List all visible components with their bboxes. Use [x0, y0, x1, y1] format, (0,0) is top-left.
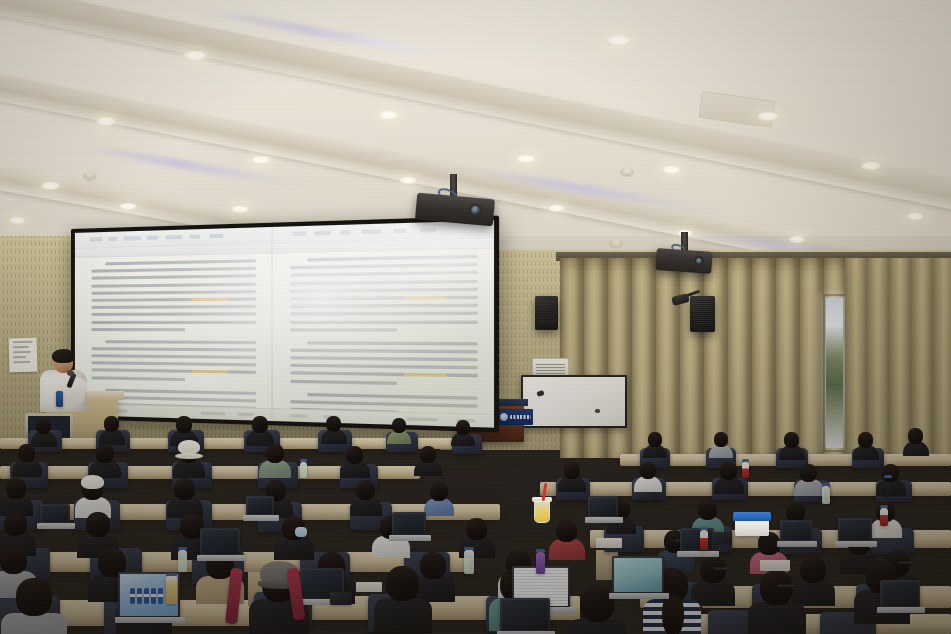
wall-speaker-right	[690, 296, 715, 332]
student-head	[456, 420, 470, 435]
laptop-base	[677, 551, 719, 557]
laptop-screen	[840, 520, 870, 540]
bottle-cap	[742, 459, 749, 462]
notebook	[356, 582, 382, 592]
ceiling-downlight	[183, 51, 207, 61]
document-page-right	[271, 220, 494, 427]
bucket-hat	[178, 440, 200, 454]
bottle-cap	[536, 549, 545, 552]
student-head	[18, 444, 35, 462]
face-mask	[295, 527, 308, 537]
student-head	[640, 462, 656, 479]
student-head	[784, 432, 799, 448]
laptop-screen	[614, 558, 662, 592]
laptop-lid	[612, 556, 664, 594]
water-bottle	[700, 530, 708, 550]
student-head	[326, 416, 341, 432]
wall-notice-paper	[9, 338, 38, 373]
student-head	[346, 446, 363, 464]
student-head	[252, 416, 268, 433]
student-head	[786, 502, 805, 522]
student-head	[86, 512, 110, 537]
laptop-lid	[780, 520, 812, 542]
laptop-screen-figures	[130, 584, 170, 604]
laptop-base	[389, 535, 431, 541]
student-head	[698, 500, 717, 520]
laptop-base	[585, 517, 623, 523]
laptop-screen	[394, 514, 424, 534]
laptop	[588, 496, 618, 518]
screen-figure-icon	[137, 588, 142, 604]
student-head	[36, 418, 51, 434]
ceiling-downlight	[231, 206, 249, 213]
ceiling-downlight	[548, 205, 565, 212]
drink-cup	[534, 500, 550, 523]
ceiling-downlight	[861, 162, 881, 170]
student-head	[6, 478, 26, 499]
document-text-left	[92, 259, 257, 403]
laptop-lid	[500, 598, 550, 632]
student-head	[714, 432, 728, 447]
laptop	[40, 504, 70, 524]
projector-lens-icon	[694, 256, 705, 267]
ceiling-downlight	[41, 182, 60, 190]
ponytail	[662, 595, 683, 634]
student-head	[800, 464, 817, 482]
projector-right	[655, 248, 712, 274]
ceiling-downlight	[757, 112, 779, 121]
laptop-base	[37, 523, 75, 529]
screen-figure-icon	[158, 588, 163, 604]
ceiling-downlight	[9, 217, 26, 224]
bottle-cap	[300, 459, 307, 462]
water-bottle	[880, 508, 888, 526]
water-bottle	[300, 462, 307, 478]
student-head	[556, 520, 577, 542]
student-head	[564, 462, 580, 479]
smartphone	[712, 532, 732, 543]
baseball-cap	[81, 475, 104, 489]
water-bottle	[178, 550, 187, 572]
laptop-lid	[880, 580, 920, 608]
laptop	[880, 580, 920, 608]
bottle-cap	[700, 527, 708, 530]
laptop-lid	[838, 518, 872, 542]
document-text-right	[291, 255, 478, 409]
student-seating-area	[0, 400, 951, 634]
screen-figure-icon	[130, 588, 135, 604]
laptop-lid	[40, 504, 70, 524]
laptop-screen	[42, 506, 68, 522]
student-torso	[274, 537, 314, 560]
student-head	[16, 578, 52, 616]
projection-screen-surface	[75, 220, 494, 427]
laptop-base	[877, 607, 925, 613]
student-head	[430, 482, 448, 501]
tissue-box-lid	[733, 512, 771, 521]
ceiling-downlight	[516, 155, 536, 163]
student-head	[4, 512, 27, 536]
student-head	[800, 556, 826, 583]
laptop-lid	[392, 512, 426, 536]
student-head	[858, 432, 873, 448]
laptop-base	[609, 593, 669, 599]
student-head	[266, 444, 284, 463]
ceiling-downlight	[96, 117, 116, 126]
bottle-cap	[880, 505, 888, 508]
bottle-cap	[822, 483, 830, 486]
student-head	[720, 462, 737, 480]
ceiling-downlight	[907, 213, 924, 220]
smartphone	[330, 592, 352, 605]
laptop-lid	[246, 496, 274, 516]
student-torso	[549, 539, 585, 560]
student-head	[0, 546, 27, 574]
bottle-cap	[166, 573, 177, 576]
bucket-hat-brim	[175, 453, 203, 459]
student-torso	[748, 602, 806, 634]
laptop	[500, 598, 550, 632]
student-torso	[1, 613, 67, 634]
student-head	[356, 480, 375, 500]
smartphone	[640, 492, 656, 501]
ceiling-downlight	[378, 111, 399, 120]
eyeglasses	[777, 584, 795, 587]
laptop-base	[243, 515, 279, 521]
laptop-lid	[200, 528, 240, 556]
student-head	[392, 418, 406, 433]
ceiling-downlight	[399, 177, 417, 184]
lecturer-hair	[52, 349, 75, 363]
notebook	[596, 538, 622, 548]
laptop	[392, 512, 426, 536]
screen-figure-icon	[151, 588, 156, 604]
water-bottle	[822, 486, 830, 504]
ceiling-downlight	[251, 156, 271, 164]
laptop	[680, 528, 714, 552]
student-head	[104, 416, 119, 432]
water-bottle	[742, 462, 749, 478]
laptop-screen	[248, 498, 272, 514]
student-head	[174, 478, 195, 500]
laptop	[780, 520, 812, 542]
laptop-screen	[782, 522, 810, 540]
laptop-base	[115, 617, 185, 623]
water-bottle	[166, 576, 177, 604]
laptop-base	[835, 541, 877, 547]
ceiling-downlight	[662, 166, 681, 174]
student-head	[96, 444, 114, 463]
student-head	[420, 446, 436, 463]
laptop-screen	[202, 530, 238, 554]
laptop-lid	[588, 496, 618, 518]
screen-figure-icon	[144, 588, 149, 604]
water-bottle	[464, 550, 474, 574]
laptop	[200, 528, 240, 556]
eyeglasses	[714, 567, 728, 570]
laptop-base	[197, 555, 245, 561]
ceiling-downlight	[606, 35, 632, 46]
laptop-lid	[680, 528, 714, 552]
microphone-head	[67, 370, 74, 376]
student-head	[648, 432, 662, 447]
student-head	[908, 428, 923, 444]
student-torso	[374, 598, 432, 633]
laptop-base	[777, 541, 817, 547]
notebook	[760, 560, 790, 571]
student-head	[420, 552, 446, 579]
laptop	[246, 496, 274, 516]
water-bottle	[536, 552, 545, 574]
bottle-cap	[464, 547, 474, 550]
lecture-hall-photo	[0, 0, 951, 634]
laptop	[612, 556, 664, 594]
eyeglasses	[898, 561, 912, 564]
laptop	[838, 518, 872, 542]
laptop-screen	[882, 582, 918, 606]
student-head	[466, 518, 487, 540]
water-bottle	[884, 478, 892, 496]
student-head	[580, 586, 614, 622]
ceiling-downlight	[119, 203, 137, 210]
student-head	[176, 416, 192, 433]
wall-speaker-left	[535, 296, 558, 330]
laptop-screen	[590, 498, 616, 516]
student-head	[386, 566, 419, 601]
bottle-cap	[178, 547, 187, 550]
bottle-cap	[884, 475, 892, 478]
projector-lens-icon	[468, 203, 482, 217]
laptop-screen	[502, 600, 548, 630]
student-head	[760, 570, 793, 605]
